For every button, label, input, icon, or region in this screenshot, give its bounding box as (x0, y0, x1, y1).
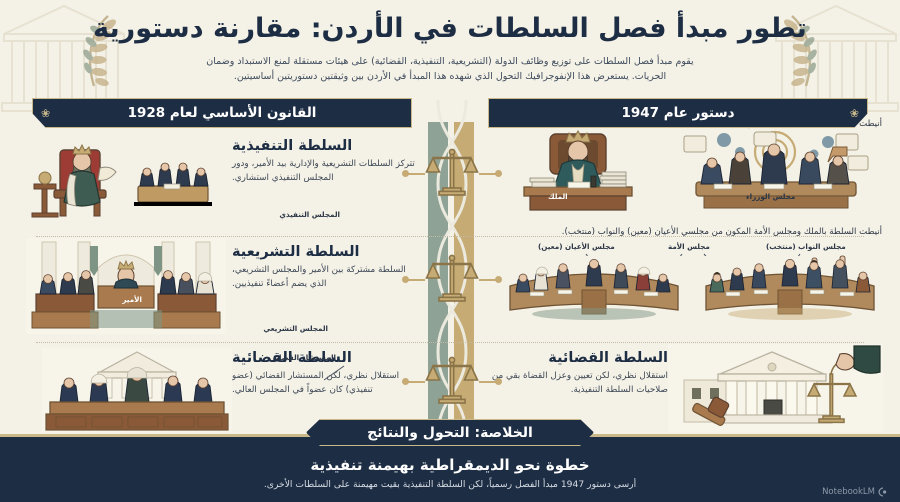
fleur-ornament-icon: ❀ (850, 107, 859, 120)
legislative-right-footnote: أنيطت السلطة بالملك ومجلس الأمة المكون م… (562, 226, 882, 238)
judicial-advisor-caption: المستشار القضائي (269, 353, 336, 362)
era-ribbon-1947[interactable]: ❀ دستور عام 1947 (488, 98, 868, 128)
senate-chamber-illustration (504, 256, 684, 322)
legislative-left-description: السلطة مشتركة بين الأمير والمجلس التشريع… (232, 264, 418, 291)
judicial-right-heading: السلطة القضائية (482, 350, 668, 367)
connector-bar-right (479, 173, 499, 175)
connector-bar-left (405, 381, 425, 383)
executive-left-heading: السلطة التنفيذية (232, 138, 418, 155)
notebooklm-icon (878, 487, 888, 497)
council-of-ministers-caption: مجلس الوزراء (746, 192, 795, 201)
watermark: NotebookLM (822, 487, 888, 497)
era-ribbons: ❀ القانون الأساسي لعام 1928 ❀ دستور عام … (0, 98, 900, 128)
row-divider-2 (36, 342, 864, 343)
connector-bar-left (405, 279, 425, 281)
connector-bar-left (405, 173, 425, 175)
council-of-ministers-illustration (678, 130, 873, 216)
balance-scale-icon-judicial (424, 352, 480, 408)
judicial-right-description: استقلال نظري، لكن تعيين وعزل القضاة بقي … (482, 370, 668, 397)
house-chamber-illustration (700, 256, 880, 322)
page-header: تطور مبدأ فصل السلطات في الأردن: مقارنة … (0, 0, 900, 85)
king-at-desk-illustration (498, 132, 658, 216)
judicial-advisor-leader-line (322, 364, 348, 382)
king-caption: الملك (548, 192, 568, 201)
legislative-left-heading: السلطة التشريعية (232, 244, 418, 261)
prince-caption: الأمير (122, 295, 142, 304)
executive-left-text: السلطة التنفيذية تتركز السلطات التشريعية… (232, 138, 418, 186)
connector-bar-right (479, 279, 499, 281)
conclusion-tab[interactable]: الخلاصة: التحول والنتائج (306, 419, 594, 446)
page-subtitle: يقوم مبدأ فصل السلطات على توزيع وظائف ال… (190, 54, 710, 85)
watermark-label: NotebookLM (822, 487, 875, 497)
legislative-council-caption: المجلس التشريعي (263, 324, 328, 333)
courthouse-gavel-scales-illustration (668, 344, 883, 436)
fleur-ornament-icon: ❀ (41, 107, 50, 120)
legislative-council-chamber-illustration (26, 238, 226, 338)
judicial-right-text: السلطة القضائية استقلال نظري، لكن تعيين … (482, 350, 668, 398)
throne-prince-illustration (26, 132, 226, 232)
conclusion-headline: خطوة نحو الديمقراطية بهيمنة تنفيذية (0, 456, 900, 474)
infographic-page: تطور مبدأ فصل السلطات في الأردن: مقارنة … (0, 0, 900, 502)
executive-left-description: تتركز السلطات التشريعية والإدارية بيد ال… (232, 158, 418, 185)
balance-scale-icon-legislative (424, 250, 480, 306)
judges-bench-illustration (42, 348, 232, 436)
era-ribbon-1928[interactable]: ❀ القانون الأساسي لعام 1928 (32, 98, 412, 128)
conclusion-bar: الخلاصة: التحول والنتائج خطوة نحو الديمق… (0, 434, 900, 502)
executive-council-caption: المجلس التنفيذي (279, 210, 340, 219)
era-ribbon-1947-label: دستور عام 1947 (621, 105, 734, 121)
era-ribbon-1928-label: القانون الأساسي لعام 1928 (128, 105, 317, 121)
conclusion-detail: أرسى دستور 1947 مبدأ الفصل رسمياً، لكن ا… (0, 479, 900, 490)
conclusion-tab-label: الخلاصة: التحول والنتائج (367, 425, 533, 441)
connector-bar-right (479, 381, 499, 383)
legislative-left-text: السلطة التشريعية السلطة مشتركة بين الأمي… (232, 244, 418, 292)
page-title: تطور مبدأ فصل السلطات في الأردن: مقارنة … (0, 12, 900, 46)
balance-scale-icon-executive (424, 144, 480, 200)
